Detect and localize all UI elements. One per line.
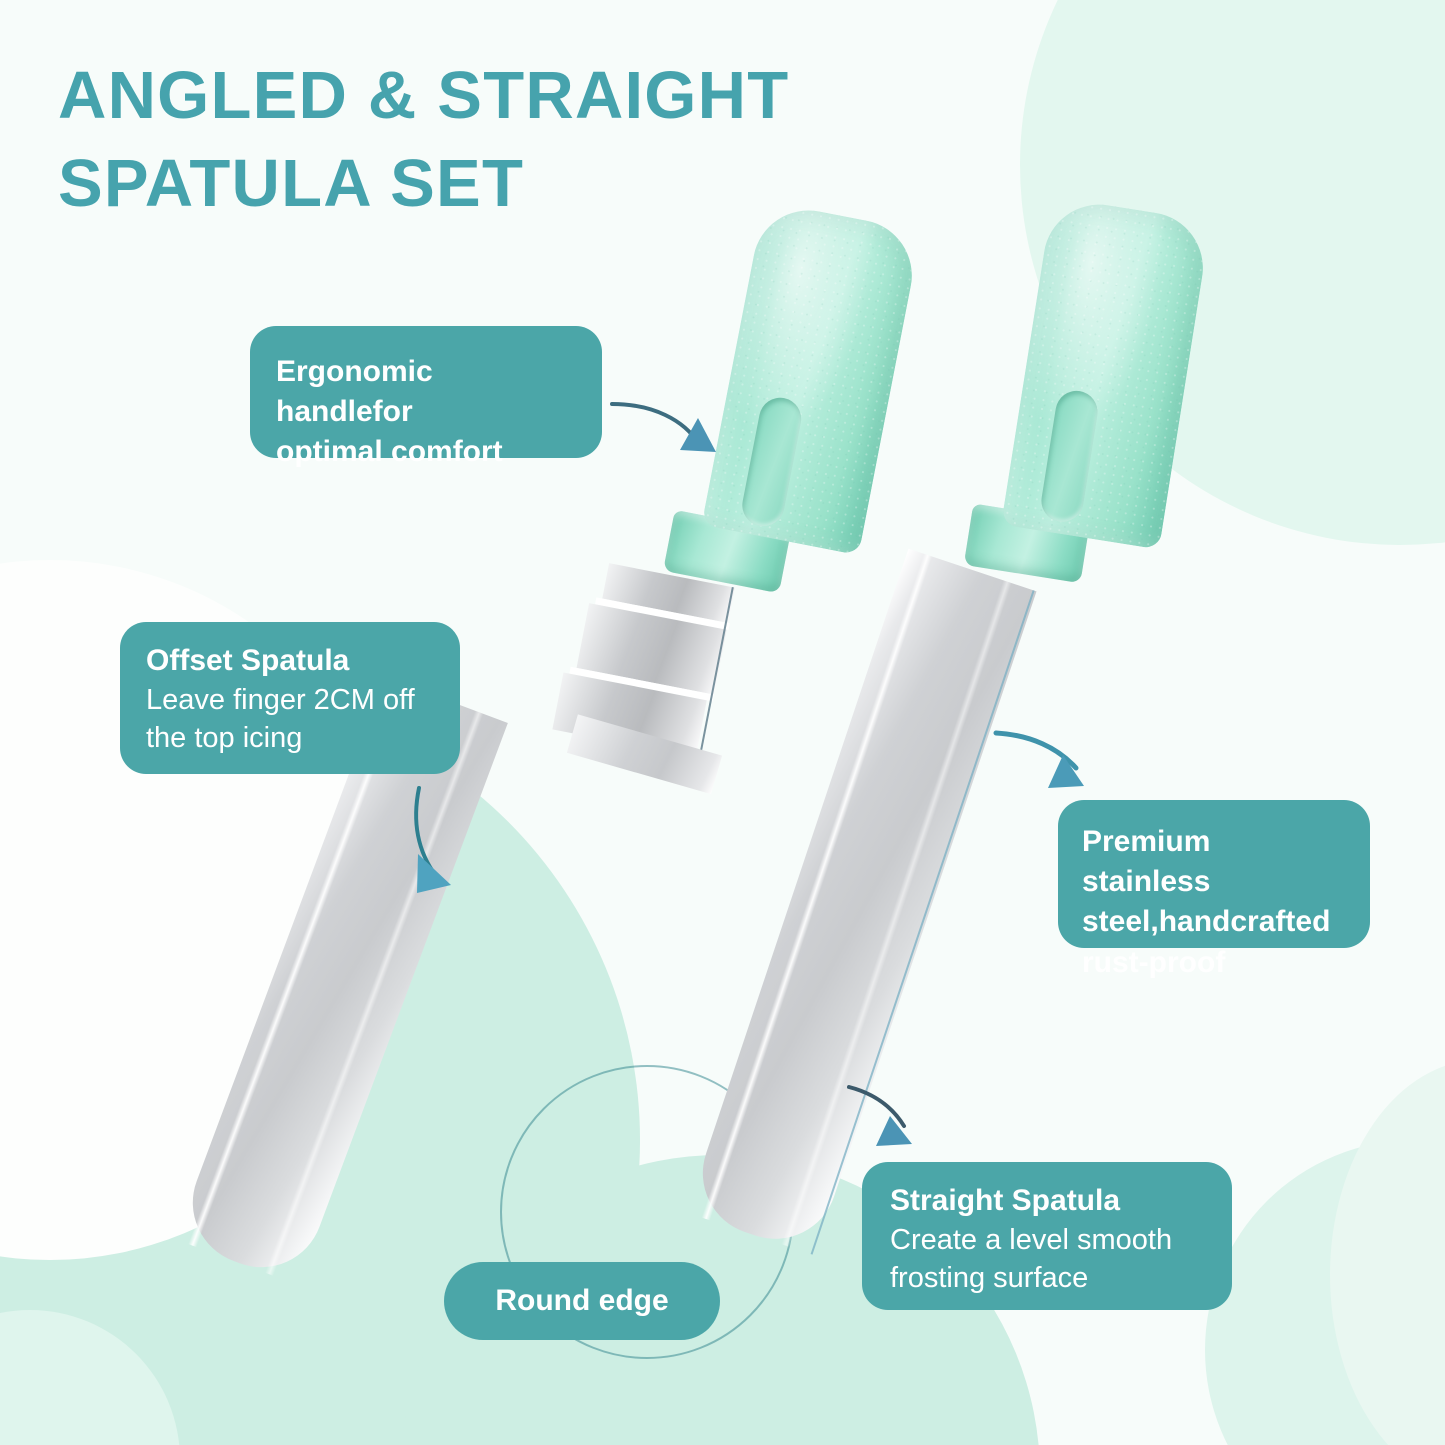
callout-ergonomic-handle[interactable]: Ergonomic handlefor optimal comfort bbox=[250, 326, 602, 458]
callout-straight-spatula[interactable]: Straight Spatula Create a level smooth f… bbox=[862, 1162, 1232, 1310]
callout-round-edge[interactable]: Round edge bbox=[444, 1262, 720, 1340]
callout-straight-spatula-body: Create a level smooth frosting surface bbox=[890, 1222, 1204, 1297]
arrow-to-straight-icon bbox=[849, 1087, 912, 1146]
callout-round-edge-text: Round edge bbox=[495, 1281, 668, 1321]
arrow-to-handle-icon bbox=[612, 404, 716, 452]
callout-premium-stainless-text: Premium stainless steel,handcrafted rust… bbox=[1082, 822, 1346, 983]
callout-offset-spatula-title: Offset Spatula bbox=[146, 642, 434, 680]
callout-straight-spatula-title: Straight Spatula bbox=[890, 1182, 1204, 1220]
infographic-canvas: ANGLED & STRAIGHT SPATULA SET bbox=[0, 0, 1445, 1445]
callout-offset-spatula-body: Leave finger 2CM off the top icing bbox=[146, 682, 434, 757]
arrow-to-offset-bend-icon bbox=[416, 788, 451, 893]
arrow-to-premium-icon bbox=[996, 733, 1084, 788]
callout-offset-spatula[interactable]: Offset Spatula Leave finger 2CM off the … bbox=[120, 622, 460, 774]
callout-ergonomic-handle-text: Ergonomic handlefor optimal comfort bbox=[276, 352, 576, 473]
callout-premium-stainless[interactable]: Premium stainless steel,handcrafted rust… bbox=[1058, 800, 1370, 948]
